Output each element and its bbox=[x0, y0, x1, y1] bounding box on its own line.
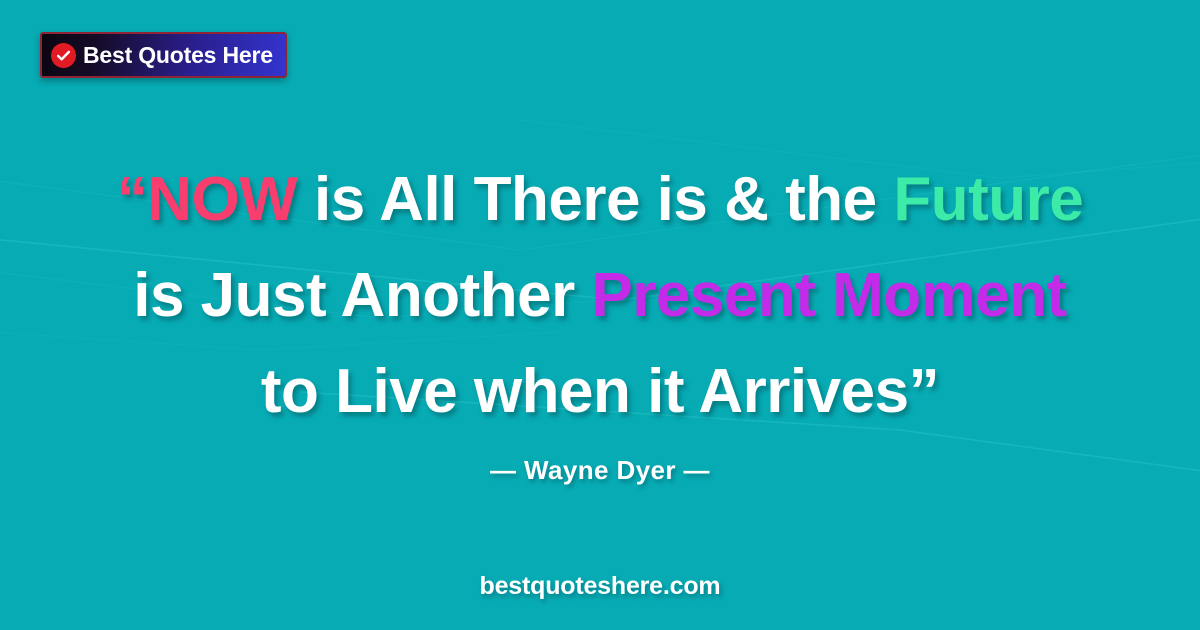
quote-highlight-future: Future bbox=[893, 165, 1083, 234]
quote-attribution: — Wayne Dyer — bbox=[0, 455, 1200, 486]
quote-highlight-now: NOW bbox=[147, 165, 297, 234]
quote-line-1: “NOW is All There is & the Future bbox=[0, 152, 1200, 248]
quote-line-2-lead: is Just Another bbox=[133, 261, 591, 330]
quote-poster: Best Quotes Here “NOW is All There is & … bbox=[0, 0, 1200, 630]
site-url-label: bestquoteshere.com bbox=[0, 572, 1200, 601]
brand-badge[interactable]: Best Quotes Here bbox=[40, 32, 287, 78]
check-circle-icon bbox=[51, 43, 76, 68]
brand-name-label: Best Quotes Here bbox=[83, 44, 273, 67]
quote-line-1-middle: is All There is & the bbox=[297, 165, 893, 234]
quote-highlight-present-moment: Present Moment bbox=[591, 261, 1066, 330]
quote-text-block: “NOW is All There is & the Future is Jus… bbox=[0, 152, 1200, 440]
quote-line-2: is Just Another Present Moment bbox=[0, 248, 1200, 344]
quote-line-3: to Live when it Arrives” bbox=[0, 344, 1200, 440]
quote-open-quotation-mark: “ bbox=[117, 165, 148, 234]
